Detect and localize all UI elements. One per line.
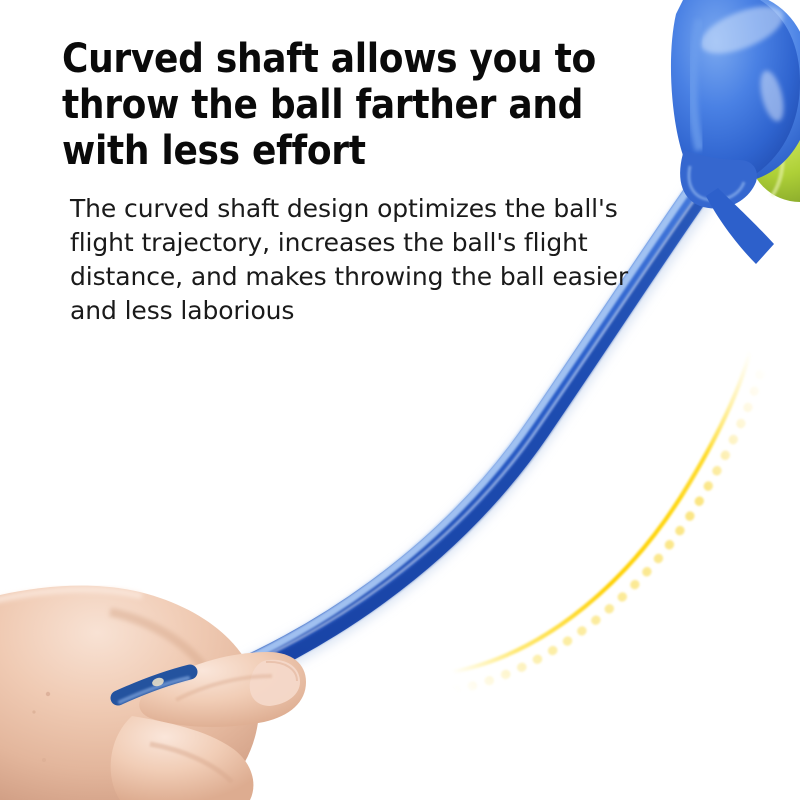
skin-mark <box>32 710 35 713</box>
skin-mark <box>42 758 46 762</box>
page-title: Curved shaft allows you to throw the bal… <box>62 36 642 174</box>
trajectory-arc-group <box>452 352 764 690</box>
product-infographic: Curved shaft allows you to throw the bal… <box>0 0 800 800</box>
skin-mark <box>46 692 50 696</box>
trajectory-solid-arc <box>452 352 750 672</box>
copy-block: Curved shaft allows you to throw the bal… <box>62 36 662 328</box>
trajectory-dotted-trail <box>455 360 764 690</box>
description-paragraph: The curved shaft design optimizes the ba… <box>70 192 662 328</box>
hand-group <box>0 586 306 800</box>
